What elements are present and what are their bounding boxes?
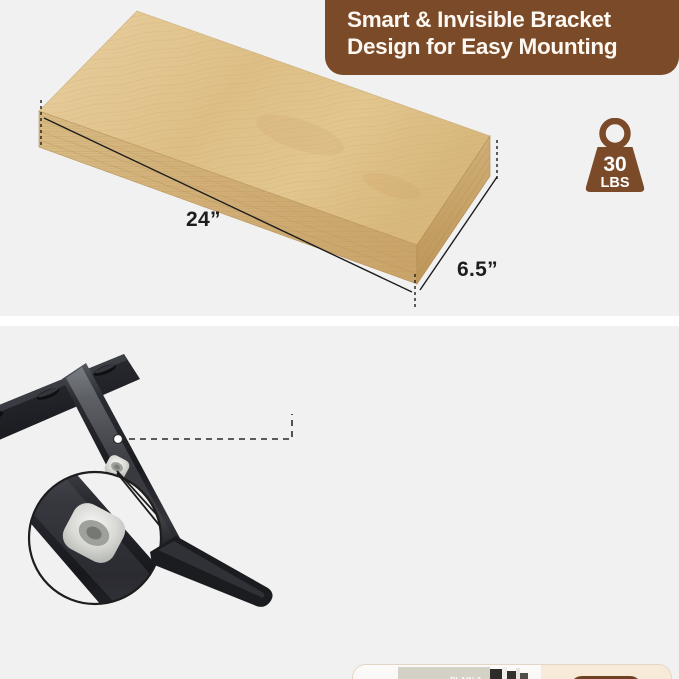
- bracket-leader-line: [118, 414, 292, 439]
- shelf-depth-label: 6.5”: [457, 258, 498, 282]
- weight-value: 30: [603, 153, 626, 176]
- shelf-width-label: 24”: [186, 208, 221, 232]
- top-panel: 24” 6.5” Smart & Invisible Bracket Desig…: [0, 0, 679, 316]
- headline-line-1: Smart & Invisible Bracket: [347, 6, 663, 33]
- ours-photo: PLAIN & SIMPLE KIM BRENNEMAN KIM BRENNEM…: [353, 665, 543, 679]
- bracket-illustration: [0, 326, 345, 679]
- weight-unit: LBS: [601, 175, 630, 191]
- comparison-card-ours: PLAIN & SIMPLE KIM BRENNEMAN KIM BRENNEM…: [352, 664, 672, 679]
- weight-capacity-badge: 30 LBS: [578, 118, 652, 194]
- headline-banner: Smart & Invisible Bracket Design for Eas…: [325, 0, 679, 75]
- bracket-rod-lower: [150, 536, 273, 607]
- ours-book-cover: PLAIN & SIMPLE KIM BRENNEMAN: [398, 667, 490, 679]
- bracket-leader-dot: [114, 435, 123, 444]
- product-infographic: 24” 6.5” Smart & Invisible Bracket Desig…: [0, 0, 679, 679]
- panel-divider: [0, 316, 679, 326]
- headline-line-2: Design for Easy Mounting: [347, 33, 663, 60]
- bottom-panel: Made of Military Grade Iron Unique Rubbe…: [0, 326, 679, 679]
- ours-text-panel: Ours DEEPER & THICKER Create more storag…: [541, 665, 671, 679]
